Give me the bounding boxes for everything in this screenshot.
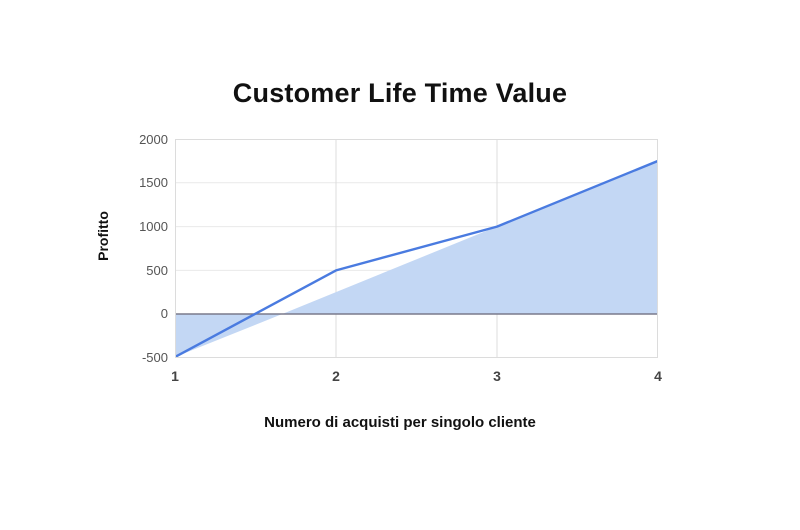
x-tick-3: 3 bbox=[477, 368, 517, 384]
x-tick-4: 4 bbox=[638, 368, 678, 384]
x-tick-1: 1 bbox=[155, 368, 195, 384]
x-tick-2: 2 bbox=[316, 368, 356, 384]
x-axis-tick-labels: 1 2 3 4 bbox=[0, 0, 800, 530]
y-axis-title: Profitto bbox=[95, 196, 111, 276]
chart-container: Customer Life Time Value bbox=[0, 0, 800, 530]
x-axis-title: Numero di acquisti per singolo cliente bbox=[0, 414, 800, 431]
